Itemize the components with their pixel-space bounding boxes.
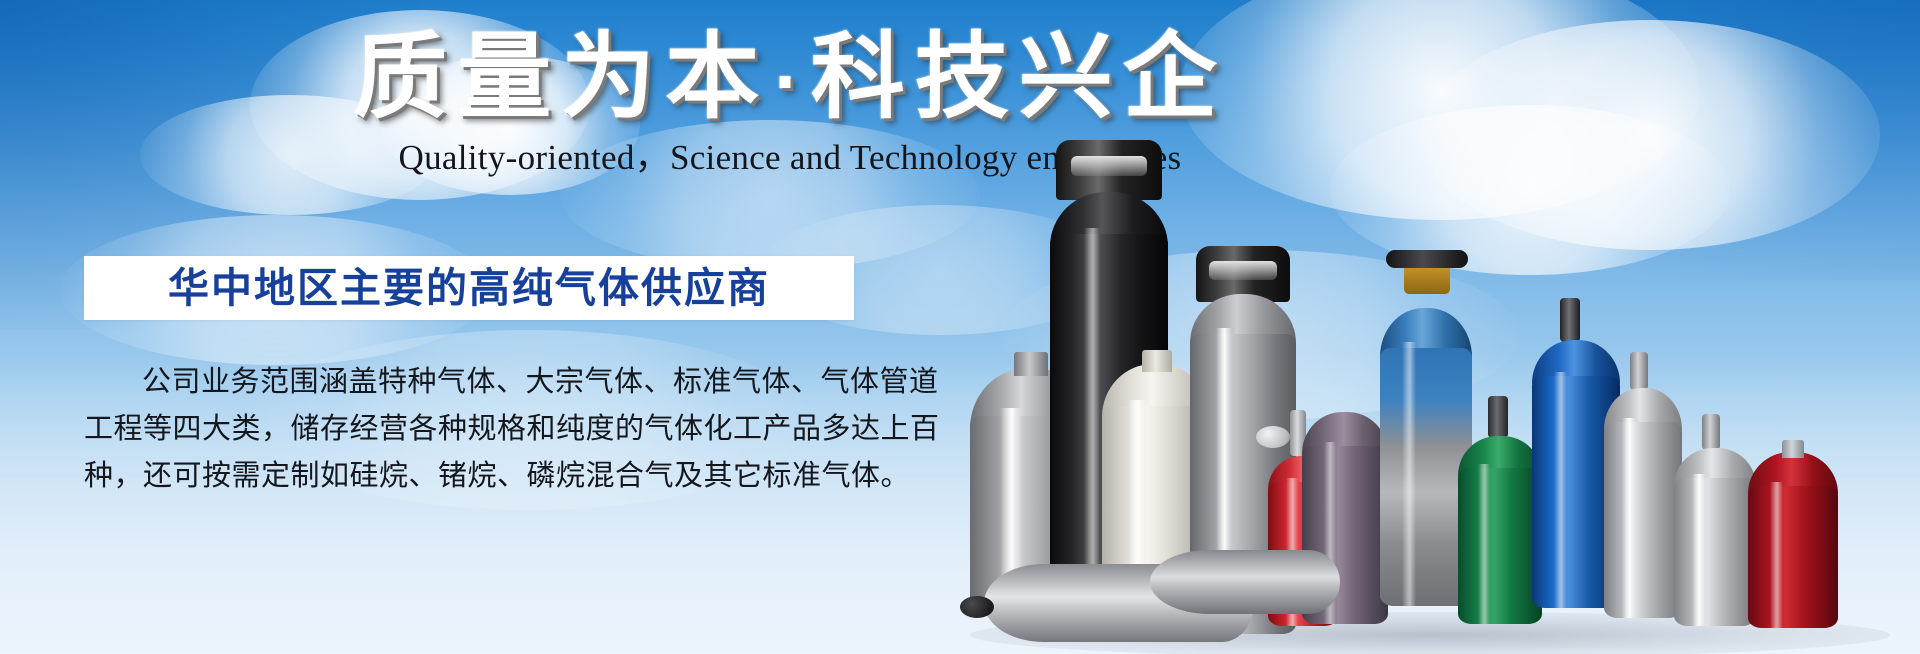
cylinder-lying-valve [960,596,994,618]
headline-separator-dot: · [769,46,811,119]
headline-part-1: 质量为本 [353,23,769,132]
cylinder-silver-lying-back [1150,550,1340,614]
gas-company-banner: 质量为本·科技兴企 Quality-oriented，Science and T… [0,0,1920,654]
cylinder-valve [1702,414,1720,450]
cylinder-red-dark-right [1748,452,1838,628]
cylinder-neck [1014,352,1048,376]
description-paragraph: 公司业务范围涵盖特种气体、大宗气体、标准气体、气体管道 工程等四大类，储存经营各… [84,358,874,499]
cylinder-body [1458,468,1542,624]
cylinder-handwheel [1256,426,1290,448]
cylinder-green-small [1458,436,1542,624]
cylinder-valve-guard [1386,250,1468,268]
description-line: 公司业务范围涵盖特种气体、大宗气体、标准气体、气体管道 [84,358,874,405]
cylinder-valve [1488,396,1508,438]
cylinder-valve [1560,298,1580,342]
cylinder-silver-aluminum [1604,388,1682,618]
slogan-box: 华中地区主要的高纯气体供应商 [84,256,854,320]
slogan-text: 华中地区主要的高纯气体供应商 [168,265,770,311]
cylinder-body [1674,478,1756,626]
description-line: 种，还可按需定制如硅烷、锗烷、磷烷混合气及其它标准气体。 [84,452,874,499]
cylinder-valve-cap [1056,140,1162,200]
cylinder-brass-valve [1404,264,1450,294]
cylinder-neck [1782,440,1804,458]
cylinder-valve [1630,352,1648,390]
description-line: 工程等四大类，储存经营各种规格和纯度的气体化工产品多达上百 [84,405,874,452]
gas-cylinder-group-photo [950,0,1920,654]
cylinder-silver-short-right [1674,448,1756,626]
cylinder-body [1604,422,1682,618]
cylinder-body [1748,486,1838,628]
cylinder-neck [1142,350,1172,372]
